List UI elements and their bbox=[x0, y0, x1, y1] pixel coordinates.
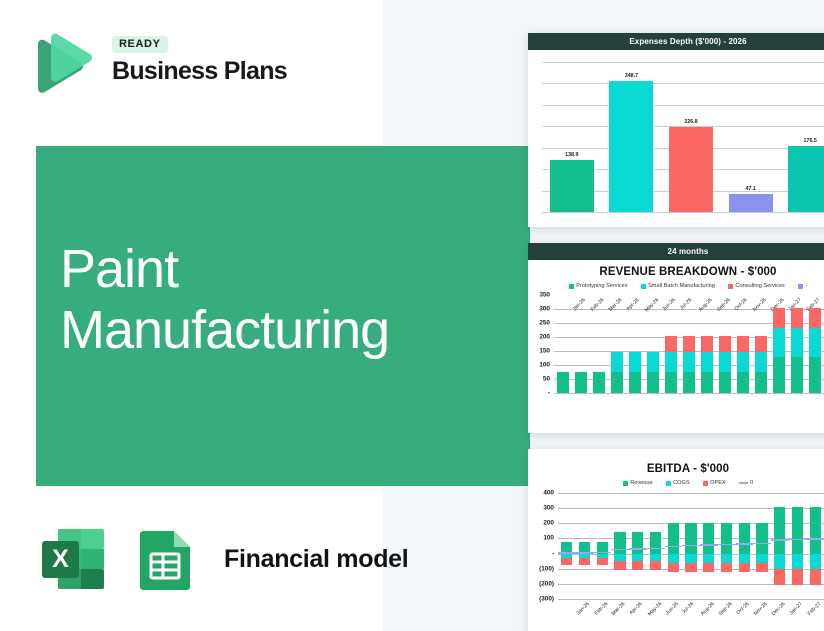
bar-value-label: 47.1 bbox=[745, 186, 755, 192]
revenue-plot-area: 35030025020015010050-Jan-26Feb-26Mar-26A… bbox=[554, 295, 824, 393]
stacked-bar-segment bbox=[665, 352, 677, 372]
stacked-bar-segment bbox=[703, 563, 714, 572]
zero-reference-line bbox=[789, 539, 807, 540]
legend-label: Prototyping Services bbox=[576, 283, 627, 289]
zero-reference-line bbox=[611, 549, 629, 550]
stacked-bar-segment bbox=[668, 523, 679, 554]
stacked-bar-segment bbox=[791, 308, 803, 328]
legend-label: Small Batch Manufacturing bbox=[648, 283, 715, 289]
bar bbox=[609, 81, 653, 212]
revenue-chart-title: REVENUE BREAKDOWN - $'000 bbox=[528, 260, 824, 280]
stacked-bar-segment bbox=[650, 554, 661, 562]
stacked-bar-segment bbox=[739, 523, 750, 554]
zero-reference-line bbox=[558, 552, 576, 553]
zero-reference-line bbox=[753, 543, 771, 544]
legend-item-2: Consulting Services bbox=[728, 283, 785, 289]
x-axis-tick: Jan-27 bbox=[788, 601, 803, 616]
stacked-bar-segment bbox=[737, 352, 749, 372]
stacked-bar-segment bbox=[756, 523, 767, 554]
stacked-bar-segment bbox=[668, 563, 679, 572]
stacked-bar-segment bbox=[719, 352, 731, 372]
bar-value-label: 348.7 bbox=[625, 73, 638, 79]
revenue-legend: Prototyping ServicesSmall Batch Manufact… bbox=[528, 280, 824, 291]
y-axis-tick: 200 bbox=[543, 520, 554, 527]
page-title: Paint Manufacturing bbox=[60, 239, 389, 361]
stacked-bar-segment bbox=[668, 554, 679, 563]
stacked-bar-segment bbox=[683, 336, 695, 353]
y-axis-tick: - bbox=[552, 550, 554, 557]
y-axis-tick: (300) bbox=[539, 596, 554, 603]
brand-logo: READY Business Plans bbox=[24, 28, 294, 100]
stacked-bar-segment bbox=[665, 372, 677, 393]
bar bbox=[729, 194, 773, 212]
bar-value-label: 138.9 bbox=[565, 152, 578, 158]
stacked-bar-segment bbox=[809, 308, 821, 328]
x-axis-tick: Dec-26 bbox=[771, 601, 787, 617]
zero-reference-line bbox=[647, 548, 665, 549]
hero-banner: Paint Manufacturing bbox=[36, 146, 530, 486]
y-axis-tick: - bbox=[548, 390, 550, 397]
stacked-bar-segment bbox=[774, 554, 785, 570]
stacked-bar-segment bbox=[791, 357, 803, 393]
y-axis-tick: 50 bbox=[543, 376, 550, 383]
legend-label: - bbox=[805, 283, 807, 289]
x-axis-tick: Apr-26 bbox=[628, 601, 643, 616]
x-axis-tick: May-26 bbox=[644, 297, 660, 313]
x-axis-tick: Jan-26 bbox=[575, 601, 590, 616]
stacked-bar-segment bbox=[579, 558, 590, 565]
footer-row: X Financial model bbox=[36, 521, 408, 597]
legend-swatch-icon bbox=[739, 482, 748, 484]
ebitda-plot-area: 400300200100-(100)(200)(300)Jan-26Feb-26… bbox=[558, 493, 824, 599]
stacked-bar-segment bbox=[810, 554, 821, 570]
x-axis-tick: Oct-26 bbox=[735, 601, 750, 616]
stacked-bar-segment bbox=[614, 532, 625, 554]
gridline bbox=[542, 83, 824, 84]
stacked-bar-segment bbox=[611, 352, 623, 372]
stacked-bar-segment bbox=[685, 554, 696, 563]
legend-label: Revenue bbox=[630, 480, 652, 486]
legend-item-3: 0 bbox=[739, 480, 754, 486]
stacked-bar-segment bbox=[773, 308, 785, 328]
slide-root: READY Business Plans Paint Manufacturing… bbox=[0, 0, 824, 631]
x-axis-tick: Feb-27 bbox=[806, 601, 822, 617]
stacked-bar-segment bbox=[597, 558, 608, 565]
stacked-bar-segment bbox=[629, 352, 641, 372]
chart-card-expenses[interactable]: Expenses Depth ($'000) - 2026 138.9348.7… bbox=[528, 33, 824, 227]
bar bbox=[550, 160, 594, 212]
chart-card-revenue[interactable]: 24 months REVENUE BREAKDOWN - $'000 Prot… bbox=[528, 243, 824, 433]
stacked-bar-segment bbox=[632, 554, 643, 562]
stacked-bar-segment bbox=[792, 507, 803, 553]
chart-card-ebitda[interactable]: EBITDA - $'000 RevenueCOGSOPEX0 40030020… bbox=[528, 449, 824, 631]
zero-reference-line bbox=[682, 545, 700, 546]
stacked-bar-segment bbox=[810, 507, 821, 553]
stacked-bar-segment bbox=[791, 328, 803, 357]
gridline bbox=[558, 493, 824, 494]
x-axis-tick: Nov-26 bbox=[753, 601, 769, 617]
legend-item-1: COGS bbox=[666, 480, 690, 486]
stacked-bar-segment bbox=[774, 569, 785, 584]
y-axis-tick: 150 bbox=[539, 348, 550, 355]
x-axis-tick: Aug-26 bbox=[700, 601, 716, 617]
stacked-bar-segment bbox=[739, 563, 750, 572]
y-axis-tick: 300 bbox=[539, 306, 550, 313]
stacked-bar-segment bbox=[721, 563, 732, 572]
y-axis-tick: 200 bbox=[539, 334, 550, 341]
gridline bbox=[558, 599, 824, 600]
y-axis-tick: 350 bbox=[539, 292, 550, 299]
legend-swatch-icon bbox=[666, 481, 671, 486]
y-axis-tick: 250 bbox=[539, 320, 550, 327]
stacked-bar-segment bbox=[665, 336, 677, 353]
legend-item-1: Small Batch Manufacturing bbox=[641, 283, 715, 289]
stacked-bar-segment bbox=[575, 372, 587, 393]
gridline bbox=[542, 105, 824, 106]
legend-item-2: OPEX bbox=[703, 480, 726, 486]
y-axis-tick: 100 bbox=[543, 535, 554, 542]
stacked-bar-segment bbox=[755, 352, 767, 372]
zero-reference-line bbox=[665, 546, 683, 547]
x-axis-tick: Nov-26 bbox=[752, 297, 768, 313]
stacked-bar-segment bbox=[773, 357, 785, 393]
y-axis-tick: (200) bbox=[539, 580, 554, 587]
stacked-bar-segment bbox=[809, 357, 821, 393]
x-axis-tick: May-26 bbox=[647, 601, 663, 617]
zero-reference-line bbox=[807, 538, 824, 539]
stacked-bar-segment bbox=[647, 372, 659, 393]
legend-swatch-icon bbox=[728, 284, 733, 289]
bar-value-label: 176.5 bbox=[804, 138, 817, 144]
x-axis-tick: Jul-26 bbox=[681, 601, 695, 615]
y-axis-tick: (100) bbox=[539, 565, 554, 572]
stacked-bar-segment bbox=[721, 523, 732, 554]
legend-swatch-icon bbox=[703, 481, 708, 486]
legend-label: COGS bbox=[673, 480, 689, 486]
legend-swatch-icon bbox=[623, 481, 628, 486]
stacked-bar-segment bbox=[632, 532, 643, 554]
legend-label: Consulting Services bbox=[735, 283, 784, 289]
stacked-bar-segment bbox=[719, 336, 731, 353]
stacked-bar-segment bbox=[739, 554, 750, 563]
stacked-bar-segment bbox=[703, 554, 714, 563]
stacked-bar-segment bbox=[650, 561, 661, 569]
stacked-bar-segment bbox=[755, 336, 767, 353]
stacked-bar-segment bbox=[809, 328, 821, 357]
zero-reference-line bbox=[629, 548, 647, 549]
stacked-bar-segment bbox=[685, 523, 696, 554]
legend-swatch-icon bbox=[569, 284, 574, 289]
x-axis-tick: Feb-26 bbox=[593, 601, 609, 617]
ebitda-chart-title: EBITDA - $'000 bbox=[528, 449, 824, 477]
stacked-bar-segment bbox=[737, 372, 749, 393]
page-title-line1: Paint bbox=[60, 239, 389, 300]
stacked-bar-segment bbox=[557, 372, 569, 393]
x-axis-tick: Feb-26 bbox=[590, 297, 606, 313]
gridline bbox=[542, 212, 824, 213]
y-axis-tick: 100 bbox=[539, 362, 550, 369]
stacked-bar-segment bbox=[755, 372, 767, 393]
x-axis-tick: Mar-26 bbox=[608, 297, 624, 313]
stacked-bar-segment bbox=[774, 507, 785, 553]
stacked-bar-segment bbox=[629, 372, 641, 393]
stacked-bar-segment bbox=[737, 336, 749, 353]
stacked-bar-segment bbox=[721, 554, 732, 563]
ebitda-legend: RevenueCOGSOPEX0 bbox=[528, 477, 824, 488]
legend-item-3: - bbox=[798, 283, 807, 289]
brand-name: Business Plans bbox=[112, 57, 287, 86]
gridline bbox=[542, 62, 824, 63]
microsoft-excel-icon[interactable]: X bbox=[36, 521, 112, 597]
x-axis-tick: Sep-26 bbox=[718, 601, 734, 617]
stacked-bar-segment bbox=[756, 563, 767, 572]
zero-reference-line bbox=[576, 552, 594, 553]
legend-item-0: Prototyping Services bbox=[569, 283, 628, 289]
zero-reference-line bbox=[594, 552, 612, 553]
stacked-bar-segment bbox=[810, 569, 821, 584]
stacked-bar-segment bbox=[685, 563, 696, 572]
y-axis-tick: 400 bbox=[543, 490, 554, 497]
stacked-bar-segment bbox=[756, 554, 767, 563]
zero-reference-line bbox=[771, 539, 789, 540]
stacked-bar-segment bbox=[792, 569, 803, 584]
stacked-bar-segment bbox=[593, 372, 605, 393]
stacked-bar-segment bbox=[773, 328, 785, 357]
legend-swatch-icon bbox=[798, 284, 803, 289]
bar bbox=[788, 146, 824, 212]
stacked-bar-segment bbox=[701, 336, 713, 353]
stacked-bar-segment bbox=[719, 372, 731, 393]
stacked-bar-segment bbox=[614, 554, 625, 562]
stacked-bar-segment bbox=[561, 558, 572, 565]
stacked-bar-segment bbox=[683, 372, 695, 393]
x-axis-tick: Mar-26 bbox=[611, 601, 627, 617]
x-axis-tick: Jun-26 bbox=[664, 601, 679, 616]
expenses-header-bar: Expenses Depth ($'000) - 2026 bbox=[528, 33, 824, 50]
stacked-bar-segment bbox=[611, 372, 623, 393]
stacked-bar-segment bbox=[701, 372, 713, 393]
bar-value-label: 226.8 bbox=[684, 119, 697, 125]
revenue-header-bar: 24 months bbox=[528, 243, 824, 260]
footer-label: Financial model bbox=[224, 545, 408, 574]
legend-swatch-icon bbox=[641, 284, 646, 289]
y-axis-tick: 300 bbox=[543, 505, 554, 512]
page-title-line2: Manufacturing bbox=[60, 300, 389, 361]
svg-text:X: X bbox=[52, 545, 69, 573]
zero-reference-line bbox=[736, 543, 754, 544]
x-axis-tick: Sep-26 bbox=[716, 297, 732, 313]
legend-label: 0 bbox=[750, 480, 753, 486]
zero-reference-line bbox=[718, 544, 736, 545]
stacked-bar-segment bbox=[650, 532, 661, 554]
stacked-bar-segment bbox=[632, 561, 643, 569]
bar bbox=[669, 127, 713, 212]
legend-item-0: Revenue bbox=[623, 480, 653, 486]
zero-reference-line bbox=[700, 544, 718, 545]
stacked-bar-segment bbox=[647, 352, 659, 372]
stacked-bar-segment bbox=[614, 561, 625, 569]
stacked-bar-segment bbox=[683, 352, 695, 372]
ready-badge: READY bbox=[112, 36, 168, 53]
stacked-bar-segment bbox=[703, 523, 714, 554]
x-axis-tick: Aug-26 bbox=[698, 297, 714, 313]
play-triangle-logo-icon bbox=[24, 28, 96, 100]
brand-text: READY Business Plans bbox=[112, 34, 287, 86]
expenses-plot-area: 138.9348.7226.847.1176.5 bbox=[542, 62, 824, 212]
stacked-bar-segment bbox=[792, 554, 803, 570]
gridline bbox=[554, 393, 824, 394]
legend-label: OPEX bbox=[710, 480, 726, 486]
stacked-bar-segment bbox=[701, 352, 713, 372]
google-sheets-icon[interactable] bbox=[126, 521, 202, 597]
